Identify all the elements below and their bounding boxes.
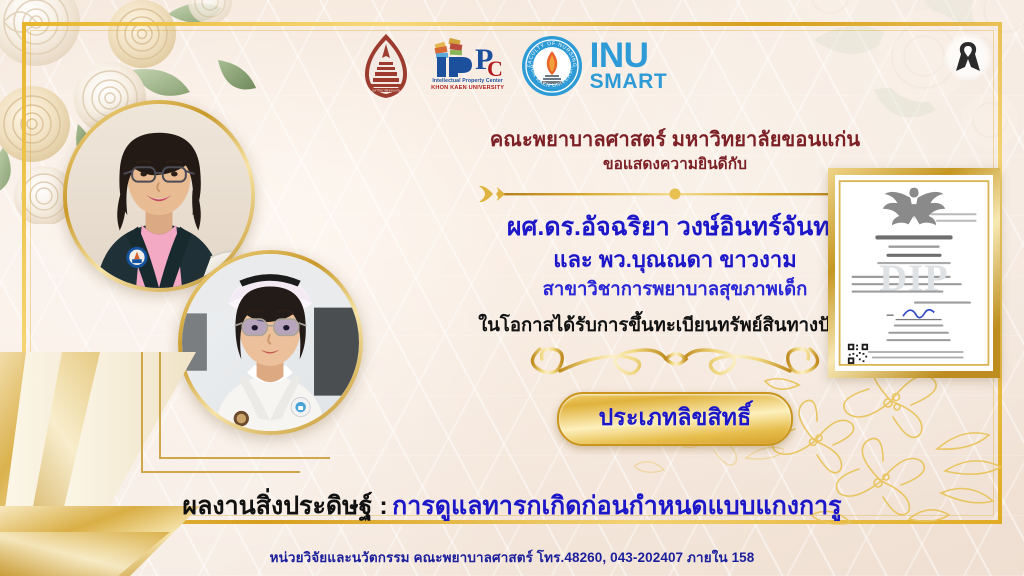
- gold-divider-ornament: [475, 184, 875, 204]
- badge-label: ประเภทลิขสิทธิ์: [599, 404, 752, 430]
- congratulations-poster: มหาวิทยาลัยขอนแก่น P C Intellectual Prop…: [0, 0, 1024, 576]
- invention-line: ผลงานสิ่งประดิษฐ์ : การดูแลทารกเกิดก่อนก…: [0, 486, 1024, 526]
- footer-text: หน่วยวิจัยและนวัตกรรม คณะพยาบาลศาสตร์ โท…: [270, 550, 755, 565]
- ipc-logo: P C Intellectual Property Center KHON KA…: [429, 35, 507, 97]
- ipc-caption-line2: KHON KAEN UNIVERSITY: [431, 85, 504, 91]
- kku-university-seal-icon: มหาวิทยาลัยขอนแก่น: [357, 32, 415, 100]
- inu-word: INU: [590, 40, 668, 72]
- faculty-heading: คณะพยาบาลศาสตร์ มหาวิทยาลัยขอนแก่น: [366, 128, 984, 154]
- honoree-photo-2: [178, 250, 363, 435]
- certificate-image: DIP: [828, 168, 1000, 378]
- logo-row: มหาวิทยาลัยขอนแก่น P C Intellectual Prop…: [0, 30, 1024, 102]
- footer-contact: หน่วยวิจัยและนวัตกรรม คณะพยาบาลศาสตร์ โท…: [0, 546, 1024, 568]
- portrait-2-image: [182, 254, 359, 431]
- certificate-document: DIP: [835, 175, 993, 371]
- invention-value: การดูแลทารกเกิดก่อนกำหนดแบบแกงการู: [392, 492, 841, 520]
- invention-label: ผลงานสิ่งประดิษฐ์ :: [182, 492, 387, 520]
- portrait-1-image: [67, 104, 251, 288]
- copyright-type-badge-wrap: ประเภทลิขสิทธิ์: [366, 392, 984, 446]
- smart-word: SMART: [590, 72, 668, 91]
- copyright-type-badge: ประเภทลิขสิทธิ์: [557, 392, 794, 446]
- certificate-watermark: DIP: [879, 257, 948, 299]
- svg-text:มหาวิทยาลัยขอนแก่น: มหาวิทยาลัยขอนแก่น: [372, 88, 400, 92]
- inu-smart-logo: FACULTY OF NURSING KHON KAEN UNIVERSITY …: [521, 35, 668, 97]
- svg-text:C: C: [487, 56, 503, 79]
- faculty-of-nursing-seal-icon: FACULTY OF NURSING KHON KAEN UNIVERSITY: [521, 35, 583, 97]
- ipc-mark-icon: P C: [429, 35, 507, 79]
- gold-flourish-ornament: [510, 341, 840, 383]
